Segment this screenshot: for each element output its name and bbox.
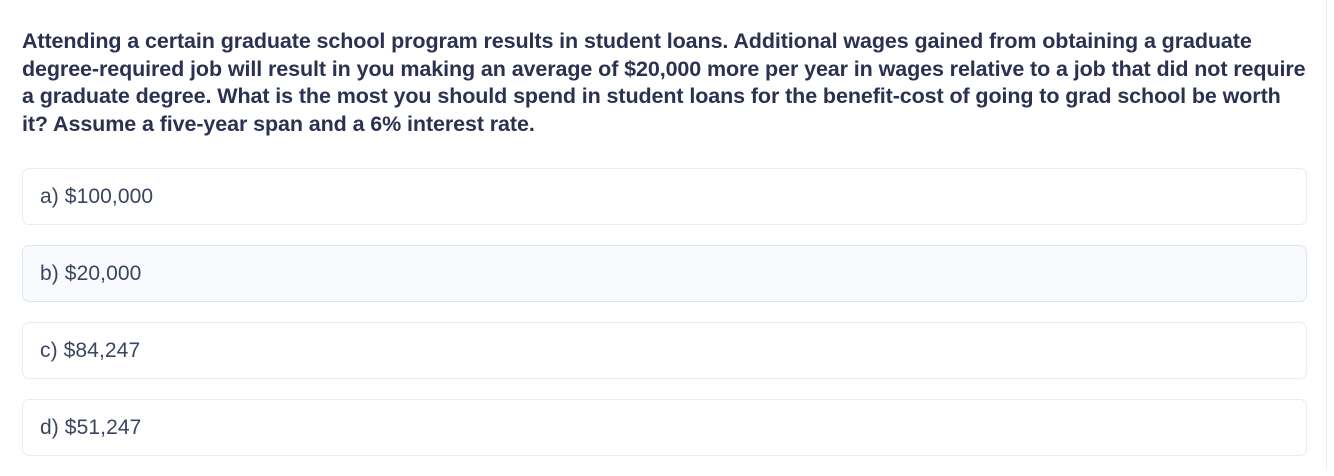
option-row-d[interactable]: d) $51,247 <box>22 399 1307 456</box>
option-label-a: a) $100,000 <box>40 185 153 209</box>
answer-options-list: a) $100,000 b) $20,000 c) $84,247 d) $51… <box>22 168 1307 476</box>
option-label-d: d) $51,247 <box>40 416 141 440</box>
option-label-b: b) $20,000 <box>40 262 141 286</box>
option-row-a[interactable]: a) $100,000 <box>22 168 1307 225</box>
option-row-b[interactable]: b) $20,000 <box>22 245 1307 302</box>
option-label-c: c) $84,247 <box>40 339 140 363</box>
quiz-panel: Attending a certain graduate school prog… <box>0 0 1327 469</box>
option-row-c[interactable]: c) $84,247 <box>22 322 1307 379</box>
question-text: Attending a certain graduate school prog… <box>22 28 1307 138</box>
